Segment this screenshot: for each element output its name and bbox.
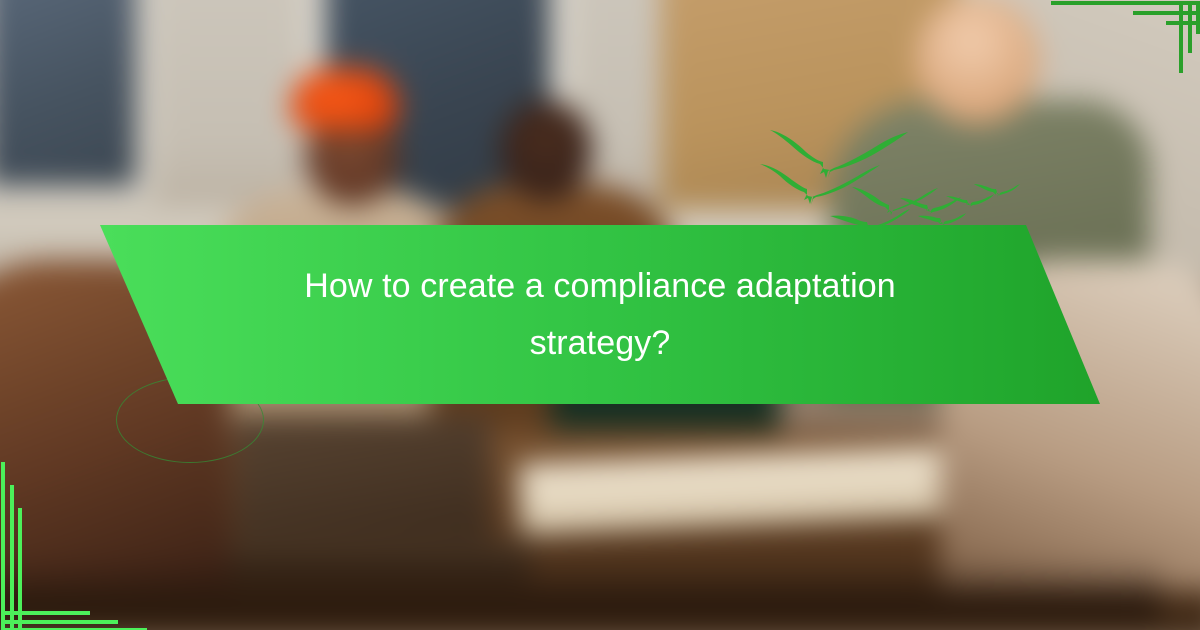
ellipse-outline-icon bbox=[116, 377, 264, 463]
page-title: How to create a compliance adaptation st… bbox=[190, 258, 1010, 372]
orange-cap bbox=[290, 68, 400, 130]
title-line-2: strategy? bbox=[190, 315, 1010, 372]
laptop-screen bbox=[235, 415, 490, 550]
banner-card: How to create a compliance adaptation st… bbox=[0, 0, 1200, 630]
flock-of-birds-icon bbox=[760, 112, 1020, 230]
bottom-shadow bbox=[0, 560, 1160, 620]
window-left bbox=[0, 0, 152, 202]
person-two-head bbox=[500, 100, 592, 200]
title-line-1: How to create a compliance adaptation bbox=[190, 258, 1010, 315]
person-three-head bbox=[915, 0, 1040, 125]
